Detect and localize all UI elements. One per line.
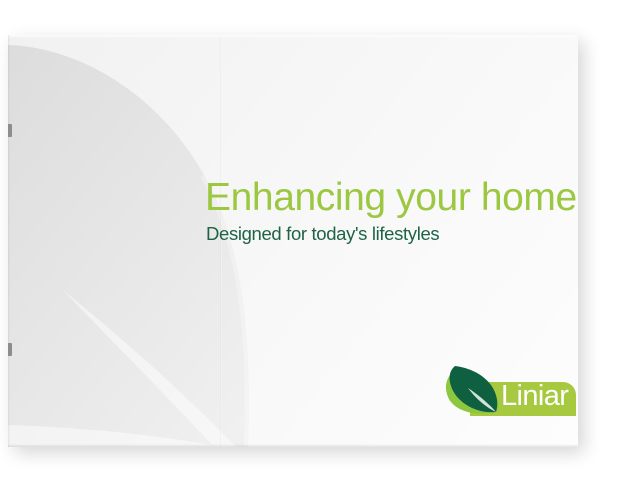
- page-canvas: Enhancing your home Designed for today's…: [0, 0, 620, 479]
- cover-top-edge: [8, 35, 578, 38]
- cover-headline: Enhancing your home: [205, 178, 570, 218]
- spine-tab-bottom: [8, 343, 12, 356]
- cover-subheadline: Designed for today's lifestyles: [206, 223, 570, 245]
- cover-bottom-edge: [8, 444, 578, 447]
- spine-tab-top: [8, 124, 12, 137]
- logo-wordmark: Liniar: [501, 382, 568, 411]
- brochure-cover: Enhancing your home Designed for today's…: [8, 35, 578, 447]
- liniar-logo: Liniar: [440, 362, 576, 420]
- headline-block: Enhancing your home Designed for today's…: [205, 178, 570, 245]
- cover-left-edge: [8, 35, 10, 447]
